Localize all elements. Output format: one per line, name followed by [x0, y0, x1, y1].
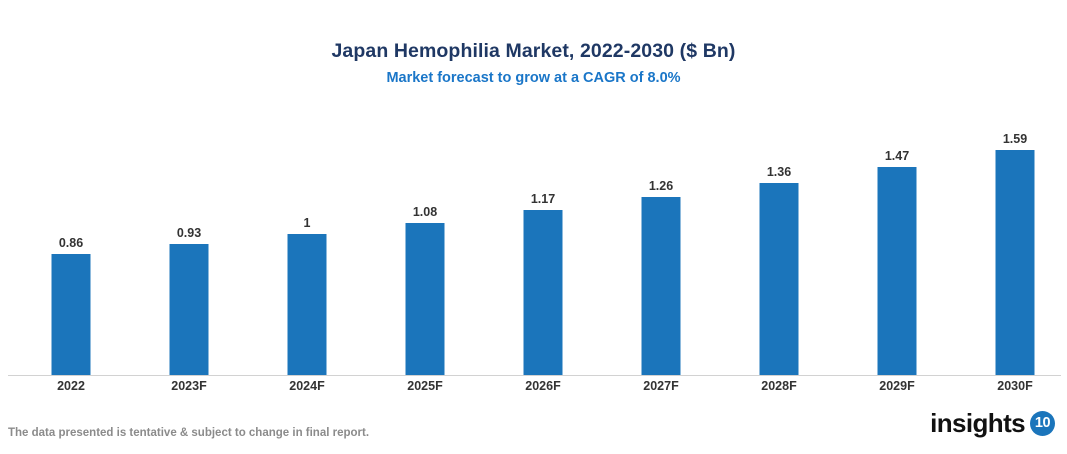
bar-slot: 1.17: [484, 110, 602, 376]
bar-value-label: 1.08: [413, 205, 437, 219]
x-axis-tick-label: 2027F: [602, 379, 720, 393]
x-axis-tick-label: 2022: [12, 379, 130, 393]
bar[interactable]: [760, 183, 799, 376]
bar-value-label: 1.36: [767, 165, 791, 179]
bar[interactable]: [524, 210, 563, 376]
x-axis-tick-label: 2026F: [484, 379, 602, 393]
insights10-logo: insights 10: [930, 409, 1055, 437]
x-axis-tick-label: 2025F: [366, 379, 484, 393]
bar-slot: 1: [248, 110, 366, 376]
bar-slot: 1.59: [956, 110, 1067, 376]
title-block: Japan Hemophilia Market, 2022-2030 ($ Bn…: [0, 38, 1067, 89]
x-axis-tick-label: 2029F: [838, 379, 956, 393]
bar-value-label: 0.93: [177, 226, 201, 240]
x-axis-line: [8, 375, 1061, 376]
x-axis-tick-label: 2028F: [720, 379, 838, 393]
x-axis-tick-label: 2024F: [248, 379, 366, 393]
x-axis-tick-label: 2023F: [130, 379, 248, 393]
chart-canvas: Japan Hemophilia Market, 2022-2030 ($ Bn…: [0, 0, 1067, 454]
logo-badge-icon: 10: [1030, 411, 1055, 436]
bar-value-label: 1.59: [1003, 132, 1027, 146]
bar[interactable]: [642, 197, 681, 376]
x-axis-tick-label: 2030F: [956, 379, 1067, 393]
chart-title: Japan Hemophilia Market, 2022-2030 ($ Bn…: [0, 38, 1067, 64]
bar-value-label: 1.47: [885, 149, 909, 163]
bar[interactable]: [878, 167, 917, 376]
bar-slot: 1.47: [838, 110, 956, 376]
bar-slot: 1.26: [602, 110, 720, 376]
bar-slot: 1.08: [366, 110, 484, 376]
bar-value-label: 1.26: [649, 179, 673, 193]
logo-wordmark: insights: [930, 409, 1025, 437]
bar-value-label: 0.86: [59, 236, 83, 250]
bar[interactable]: [52, 254, 91, 376]
disclaimer-text: The data presented is tentative & subjec…: [8, 427, 369, 439]
bar[interactable]: [170, 244, 209, 376]
x-axis-labels: 20222023F2024F2025F2026F2027F2028F2029F2…: [8, 379, 1060, 403]
bar-value-label: 1.17: [531, 192, 555, 206]
bar-slot: 0.93: [130, 110, 248, 376]
bar-slot: 0.86: [12, 110, 130, 376]
bar-value-label: 1: [304, 216, 311, 230]
bar[interactable]: [288, 234, 327, 376]
bar[interactable]: [996, 150, 1035, 376]
bar-slot: 1.36: [720, 110, 838, 376]
plot-area: 0.860.9311.081.171.261.361.471.59: [8, 110, 1060, 376]
bar[interactable]: [406, 223, 445, 377]
chart-subtitle: Market forecast to grow at a CAGR of 8.0…: [0, 67, 1067, 89]
